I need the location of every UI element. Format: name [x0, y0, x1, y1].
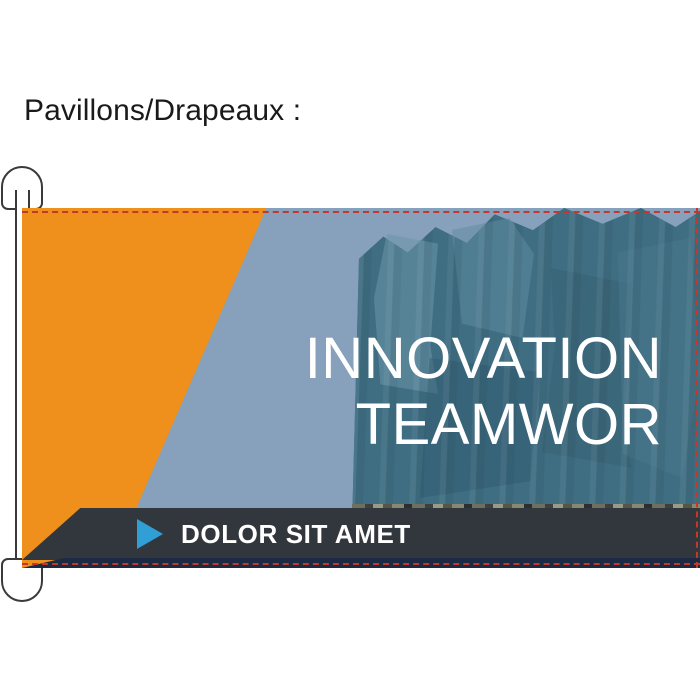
play-triangle-icon [137, 519, 163, 549]
page-title: Pavillons/Drapeaux : [24, 92, 301, 130]
headline-line-1: INNOVATION [22, 326, 662, 392]
banner-content: DOLOR SIT AMET [137, 514, 411, 554]
flag-banner-artwork: INNOVATION TEAMWOR DOLOR SIT AMET [22, 208, 700, 568]
banner-label: DOLOR SIT AMET [181, 519, 411, 550]
flag-cut-border-bottom [22, 563, 700, 565]
flag-assembly: INNOVATION TEAMWOR DOLOR SIT AMET [0, 160, 700, 620]
flag-cut-border-top [22, 211, 700, 213]
headline-line-2: TEAMWOR [22, 392, 662, 458]
artwork-headline: INNOVATION TEAMWOR [22, 326, 662, 458]
flag-cut-border-right [696, 208, 698, 568]
